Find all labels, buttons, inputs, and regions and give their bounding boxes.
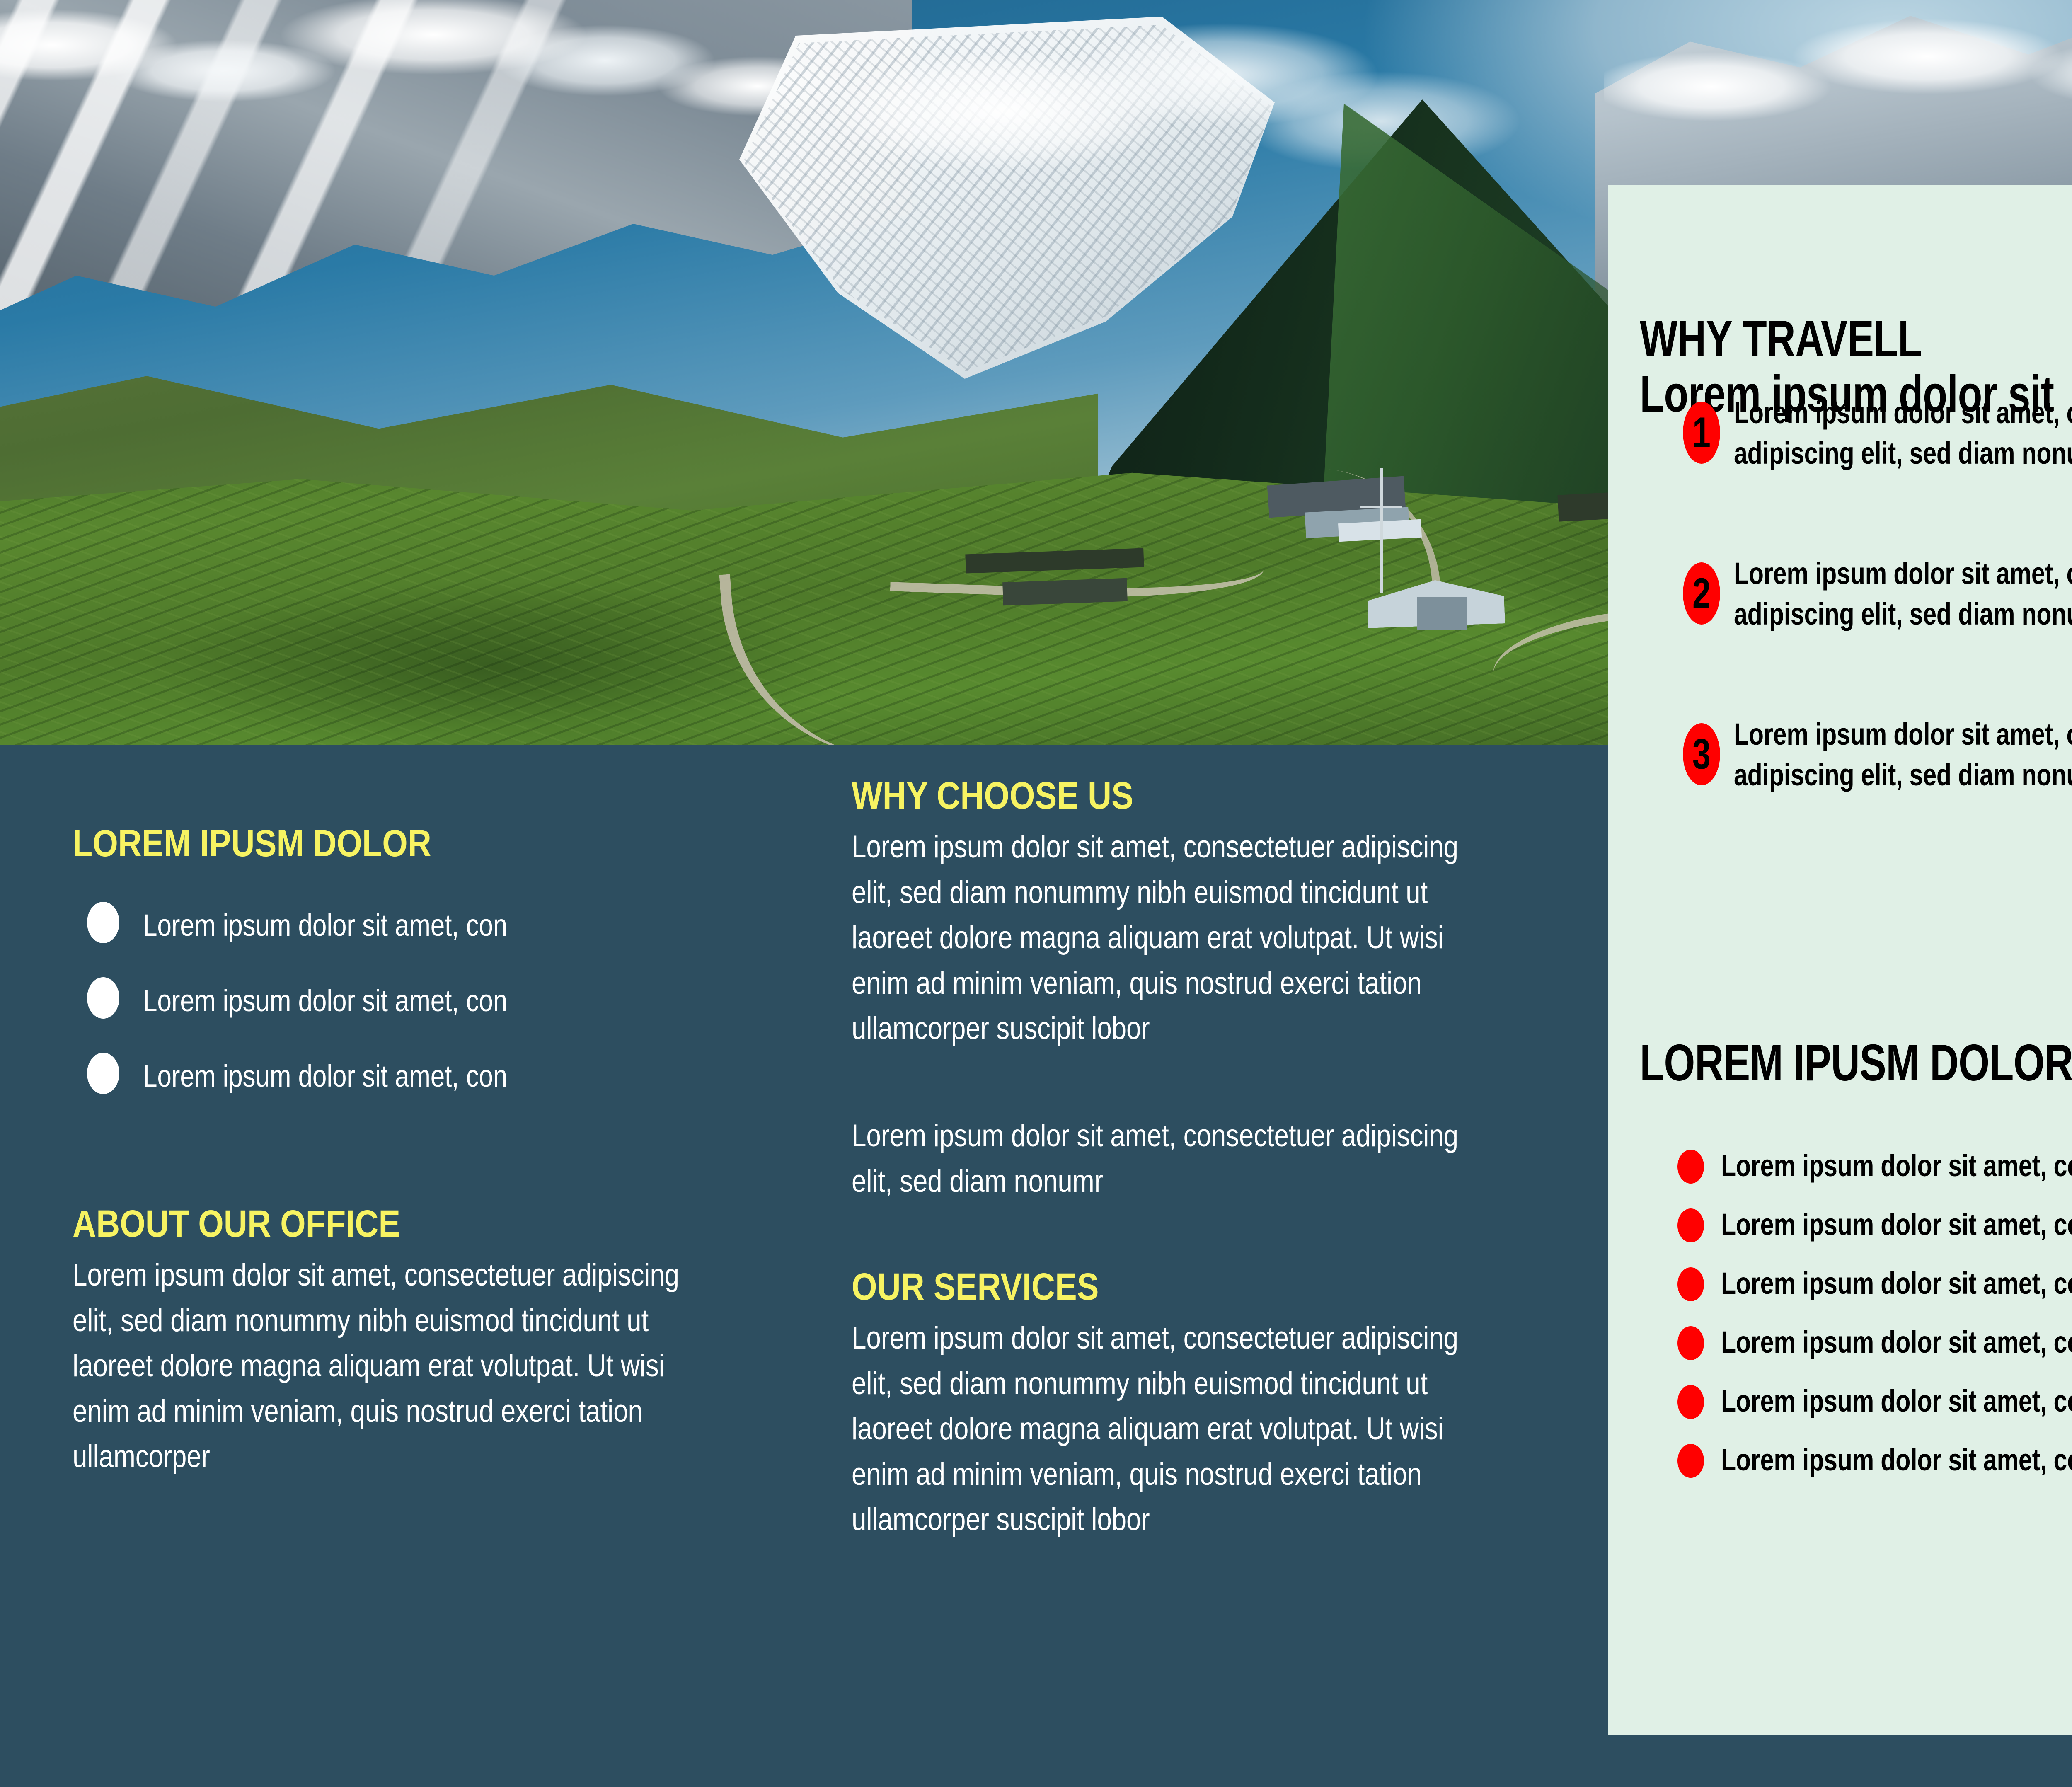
spacer bbox=[852, 1051, 1481, 1113]
list-item: Lorem ipsum dolor sit amet, con bbox=[73, 1039, 719, 1114]
panel-subheading-block: LOREM IPUSM DOLOR bbox=[1640, 1036, 2072, 1091]
panel-heading-lorem-ipusm-dolor: LOREM IPUSM DOLOR bbox=[1640, 1036, 2072, 1091]
brochure-page: LOREM IPUSM DOLOR Lorem ipsum dolor sit … bbox=[0, 0, 2072, 1787]
bullet-dot-icon bbox=[1677, 1385, 1704, 1419]
bullet-dot-icon bbox=[87, 977, 119, 1019]
bullet-dot-icon bbox=[1677, 1326, 1704, 1360]
list-item-label: Lorem ipsum dolor sit amet, con bbox=[1721, 1195, 2072, 1254]
bullet-dot-icon bbox=[87, 1053, 119, 1094]
our-services-paragraph: Lorem ipsum dolor sit amet, consectetuer… bbox=[852, 1315, 1481, 1542]
number-badge-icon: 1 bbox=[1683, 402, 1720, 464]
list-item-label: Lorem ipsum dolor sit amet, con bbox=[143, 888, 735, 963]
list-item: Lorem ipsum dolor sit amet, con bbox=[1633, 1195, 2072, 1254]
spacer bbox=[73, 1114, 719, 1203]
bullet-dot-icon bbox=[1677, 1208, 1704, 1242]
middle-heading-why-choose-us: WHY CHOOSE US bbox=[852, 775, 1393, 817]
panel-bullet-list: Lorem ipsum dolor sit amet, con Lorem ip… bbox=[1633, 1136, 2072, 1489]
panel-heading-why-travell: WHY TRAVELL bbox=[1640, 312, 2072, 367]
about-our-office-paragraph: Lorem ipsum dolor sit amet, consectetuer… bbox=[73, 1252, 702, 1479]
list-item-label: Lorem ipsum dolor sit amet, con bbox=[1721, 1431, 2072, 1489]
list-item: Lorem ipsum dolor sit amet, con bbox=[1633, 1372, 2072, 1431]
bullet-dot-icon bbox=[87, 902, 119, 943]
panel-numbered-list: 1 Lorem ipsum dolor sit amet, con- secte… bbox=[1633, 392, 2072, 875]
left-bullet-list: Lorem ipsum dolor sit amet, con Lorem ip… bbox=[73, 888, 719, 1114]
why-choose-us-paragraph-2: Lorem ipsum dolor sit amet, consectetuer… bbox=[852, 1113, 1481, 1204]
list-item: Lorem ipsum dolor sit amet, con bbox=[73, 888, 719, 963]
spacer bbox=[852, 1204, 1481, 1266]
bullet-dot-icon bbox=[1677, 1267, 1704, 1301]
why-travell-panel: WHY TRAVELL Lorem ipsum dolor sit 1 Lore… bbox=[1608, 185, 2072, 1735]
list-item: 1 Lorem ipsum dolor sit amet, con- secte… bbox=[1633, 392, 2072, 517]
number-badge-icon: 3 bbox=[1683, 723, 1720, 785]
left-heading-about-our-office: ABOUT OUR OFFICE bbox=[73, 1203, 629, 1245]
list-item-label: Lorem ipsum dolor sit amet, con bbox=[1721, 1313, 2072, 1372]
list-item: Lorem ipsum dolor sit amet, con bbox=[1633, 1136, 2072, 1195]
list-item-label: Lorem ipsum dolor sit amet, con- sectetu… bbox=[1734, 553, 2072, 635]
left-heading-lorem-ipusm-dolor: LOREM IPUSM DOLOR bbox=[73, 823, 629, 864]
number-badge-icon: 2 bbox=[1683, 562, 1720, 625]
left-content-column: LOREM IPUSM DOLOR Lorem ipsum dolor sit … bbox=[73, 823, 719, 1479]
list-item-label: Lorem ipsum dolor sit amet, con bbox=[143, 1039, 735, 1114]
list-item: Lorem ipsum dolor sit amet, con bbox=[1633, 1254, 2072, 1313]
building-chalet-shadow bbox=[1417, 597, 1467, 630]
list-item-label: Lorem ipsum dolor sit amet, con- sectetu… bbox=[1734, 714, 2072, 796]
antenna-mast bbox=[1380, 468, 1383, 593]
list-item-label: Lorem ipsum dolor sit amet, con bbox=[1721, 1136, 2072, 1195]
list-item: Lorem ipsum dolor sit amet, con bbox=[1633, 1431, 2072, 1489]
list-item: 2 Lorem ipsum dolor sit amet, con- secte… bbox=[1633, 553, 2072, 678]
list-item: Lorem ipsum dolor sit amet, con bbox=[73, 963, 719, 1039]
middle-heading-our-services: OUR SERVICES bbox=[852, 1266, 1393, 1308]
list-item-label: Lorem ipsum dolor sit amet, con- sectetu… bbox=[1734, 392, 2072, 474]
building-dark-annex bbox=[1002, 578, 1128, 605]
right-snow-caps bbox=[1604, 0, 2072, 203]
list-item-label: Lorem ipsum dolor sit amet, con bbox=[143, 963, 735, 1039]
bullet-dot-icon bbox=[1677, 1150, 1704, 1184]
list-item-label: Lorem ipsum dolor sit amet, con bbox=[1721, 1372, 2072, 1431]
why-choose-us-paragraph: Lorem ipsum dolor sit amet, consectetuer… bbox=[852, 824, 1481, 1051]
bullet-dot-icon bbox=[1677, 1444, 1704, 1478]
list-item: 3 Lorem ipsum dolor sit amet, con- secte… bbox=[1633, 714, 2072, 838]
list-item-label: Lorem ipsum dolor sit amet, con bbox=[1721, 1254, 2072, 1313]
middle-content-column: WHY CHOOSE US Lorem ipsum dolor sit amet… bbox=[852, 775, 1481, 1542]
antenna-crossbar bbox=[1360, 506, 1402, 508]
list-item: Lorem ipsum dolor sit amet, con bbox=[1633, 1313, 2072, 1372]
